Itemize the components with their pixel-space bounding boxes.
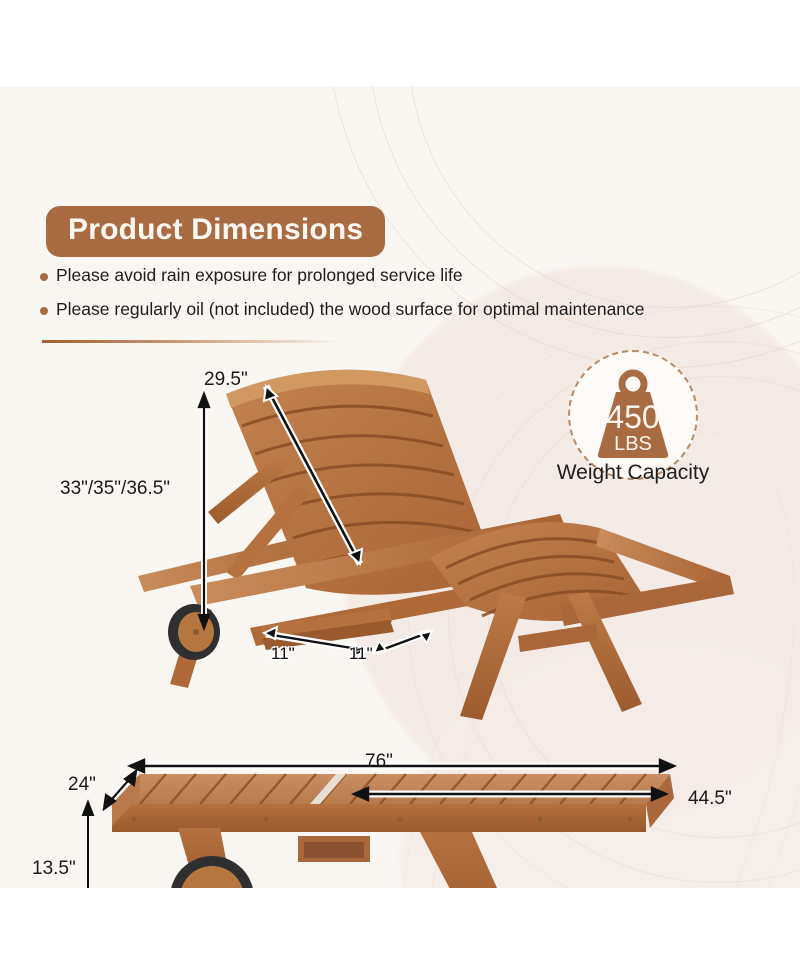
wheel — [168, 604, 220, 660]
dimension-label-width: 24" — [68, 774, 96, 796]
dimension-label-seat-height: 13.5" — [32, 858, 76, 880]
product-dimensions-infographic: Product Dimensions Please avoid rain exp… — [0, 0, 800, 977]
bullet-dot-icon — [40, 307, 48, 315]
dimension-label-seat-length: 44.5" — [688, 788, 732, 810]
dimension-label-overall-length: 76" — [365, 751, 393, 773]
flat-lounger-illustration — [70, 676, 710, 888]
dimension-footrest-right — [374, 631, 432, 653]
page-title: Product Dimensions — [46, 206, 385, 257]
wheel — [170, 856, 254, 888]
dimension-label-footrest-right: 11" — [349, 644, 373, 664]
deck-panel — [112, 774, 670, 804]
dimension-label-backrest-length: 29.5" — [204, 369, 248, 391]
dimension-overall-length — [130, 760, 674, 772]
content-panel: Product Dimensions Please avoid rain exp… — [0, 86, 800, 888]
dimension-seat-height — [83, 802, 93, 888]
reclined-lounger-illustration — [130, 276, 750, 726]
dimension-label-footrest-left: 11" — [271, 644, 295, 664]
bullet-dot-icon — [40, 273, 48, 281]
dimension-label-back-height: 33"/35"/36.5" — [60, 478, 170, 500]
